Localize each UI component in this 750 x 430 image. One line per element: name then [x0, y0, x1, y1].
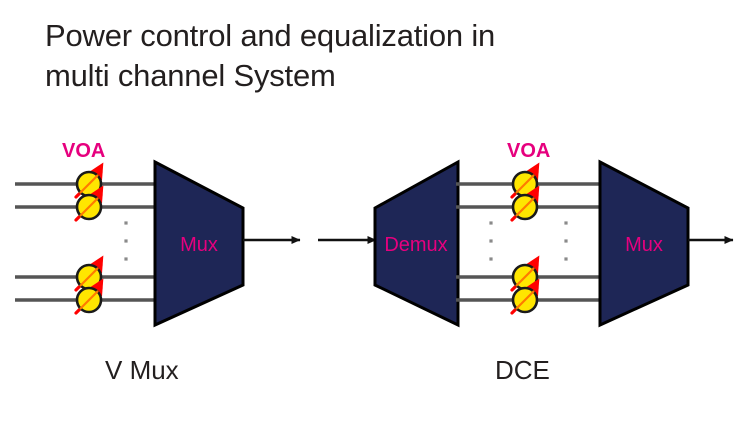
voa-icon[interactable]	[512, 159, 547, 197]
mux-label-left: Mux	[180, 234, 218, 256]
voa-icon[interactable]	[512, 252, 547, 290]
demux-label: Demux	[384, 234, 447, 256]
channel-ellipsis	[124, 221, 127, 260]
optical-network-diagram: VOA Mux Demux VOA	[0, 0, 750, 430]
channel-ellipsis	[489, 221, 492, 260]
voa-icon[interactable]	[76, 159, 111, 197]
left-stage-v-mux: VOA Mux	[15, 140, 300, 325]
voa-icon[interactable]	[76, 252, 111, 290]
voa-label-left: VOA	[62, 140, 105, 162]
mux-label-right: Mux	[625, 234, 663, 256]
channel-ellipsis	[564, 221, 567, 260]
right-stage-dce: Demux VOA Mux	[318, 140, 733, 325]
voa-label-right: VOA	[507, 140, 550, 162]
